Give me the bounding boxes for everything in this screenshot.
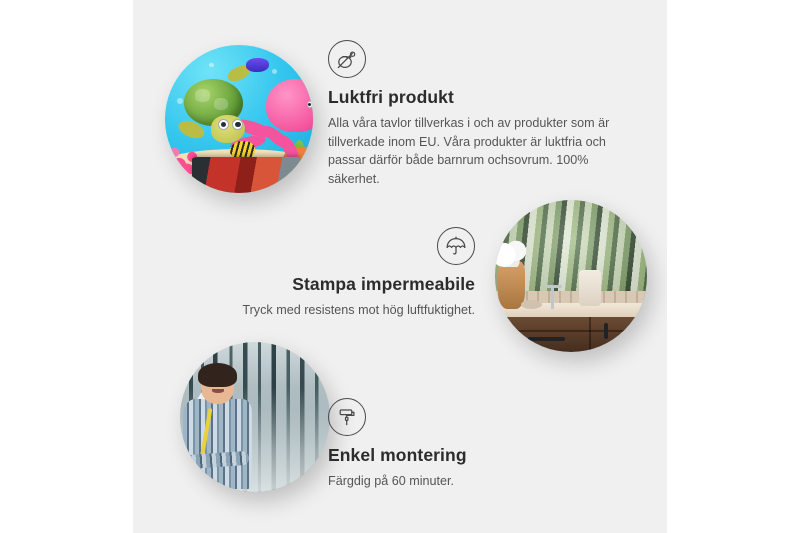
decor-vessel	[579, 270, 602, 306]
bubble-icon	[177, 98, 183, 104]
feature-description: Färgdig på 60 minuter.	[328, 472, 568, 491]
umbrella-icon	[437, 227, 475, 265]
forest-wallpaper-artwork	[180, 342, 330, 492]
cabinet-seam	[589, 317, 591, 352]
no-odour-perfume-bottle-icon	[328, 40, 366, 78]
underwater-artwork	[165, 45, 313, 193]
underwater-cartoon-mural-photo	[165, 45, 313, 193]
feature-luktfri-produkt: Luktfri produkt Alla våra tavlor tillver…	[328, 40, 628, 188]
feature-enkel-montering: Enkel montering Färgdig på 60 minuter.	[328, 398, 568, 491]
white-flowers	[495, 240, 531, 267]
faucet	[551, 285, 554, 309]
overlapping-artwork-strip	[192, 157, 302, 193]
product-feature-panel: Luktfri produkt Alla våra tavlor tillver…	[133, 0, 667, 533]
feature-title: Enkel montering	[328, 445, 568, 466]
wooden-vanity	[495, 317, 647, 352]
screenshot-canvas: Luktfri produkt Alla våra tavlor tillver…	[0, 0, 800, 533]
feature-stampa-impermeabile: Stampa impermeabile Tryck med resistens …	[213, 227, 475, 320]
bathroom-leaf-wallpaper-photo	[495, 200, 647, 352]
octopus-eye	[307, 101, 314, 107]
octopus	[266, 79, 313, 132]
paint-roller-icon	[328, 398, 366, 436]
drawer-seam	[495, 330, 647, 332]
woman-smile	[212, 389, 224, 394]
woman-paint-roller-forest-photo	[180, 342, 330, 492]
feature-description: Alla våra tavlor tillverkas i och av pro…	[328, 114, 628, 188]
bathroom-artwork	[495, 200, 647, 352]
drawer-handle	[528, 337, 564, 341]
feature-title: Stampa impermeabile	[213, 274, 475, 295]
bubble-icon	[272, 69, 277, 74]
woman-hair	[198, 363, 237, 387]
feature-description: Tryck med resistens mot hög luftfuktighe…	[213, 301, 475, 320]
bubble-icon	[209, 63, 213, 67]
plaid-shirt	[183, 399, 252, 489]
cabinet-handle	[604, 323, 608, 338]
feature-title: Luktfri produkt	[328, 87, 628, 108]
tropical-fish	[246, 58, 268, 71]
